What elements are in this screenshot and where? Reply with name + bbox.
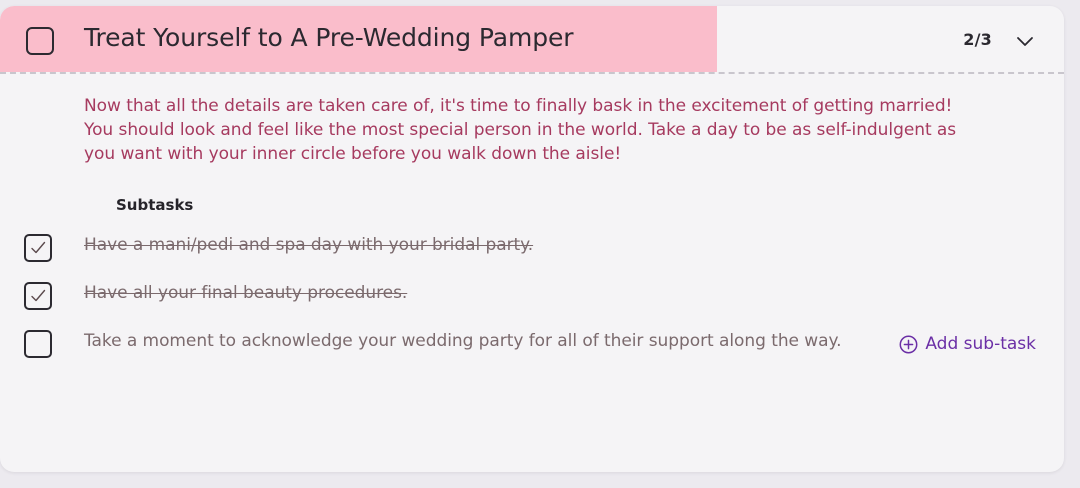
add-subtask-label: Add sub-task xyxy=(925,334,1036,354)
circle-plus-icon xyxy=(899,335,918,354)
check-icon xyxy=(28,286,48,306)
add-subtask-button[interactable]: Add sub-task xyxy=(899,334,1036,354)
task-title: Treat Yourself to A Pre-Wedding Pamper xyxy=(84,23,573,52)
task-card: Treat Yourself to A Pre-Wedding Pamper 2… xyxy=(0,6,1064,472)
task-header[interactable]: Treat Yourself to A Pre-Wedding Pamper 2… xyxy=(0,6,1064,72)
chevron-down-icon[interactable] xyxy=(1012,28,1038,54)
subtask-label: Have all your final beauty procedures. xyxy=(84,278,407,305)
task-checkbox[interactable] xyxy=(26,27,54,55)
subtask-checkbox[interactable] xyxy=(24,234,52,262)
subtask-checkbox[interactable] xyxy=(24,330,52,358)
list-item[interactable]: Have a mani/pedi and spa day with your b… xyxy=(0,224,1064,272)
task-body: Now that all the details are taken care … xyxy=(0,72,1064,368)
subtask-label: Take a moment to acknowledge your weddin… xyxy=(84,326,841,353)
check-icon xyxy=(28,238,48,258)
subtask-checkbox[interactable] xyxy=(24,282,52,310)
subtasks-heading: Subtasks xyxy=(116,196,1064,214)
list-item[interactable]: Have all your final beauty procedures. xyxy=(0,272,1064,320)
subtask-label: Have a mani/pedi and spa day with your b… xyxy=(84,230,533,257)
task-description: Now that all the details are taken care … xyxy=(84,94,978,166)
subtask-counter: 2/3 xyxy=(963,30,992,49)
